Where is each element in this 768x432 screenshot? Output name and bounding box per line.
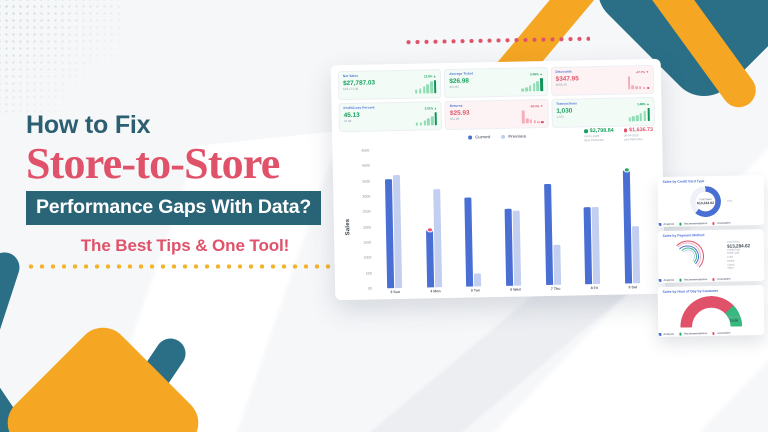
y-tick: 2000 bbox=[363, 225, 371, 229]
performer-label: Low Performer bbox=[624, 138, 653, 142]
footer-legend-label: Analysis bbox=[663, 333, 674, 336]
y-tick: 4500 bbox=[361, 149, 369, 153]
y-tick: 3500 bbox=[362, 179, 370, 183]
footer-legend-label: Recommendations bbox=[684, 222, 707, 225]
spiral-legend-item: Other bbox=[727, 267, 750, 271]
red-dotted-rule bbox=[404, 36, 590, 45]
x-tick: 6 Wed bbox=[510, 288, 521, 292]
mini-card-legend: AnalysisRecommendationsAnomalies bbox=[658, 331, 764, 336]
sales-chart-panel[interactable]: CurrentPrevious $3,798.84 09-01-2025 Bes… bbox=[339, 131, 659, 300]
kpi-delta: 3.01% ▲ bbox=[425, 106, 437, 110]
legend-item[interactable]: Previous bbox=[501, 133, 526, 138]
kpi-sparkline bbox=[522, 110, 544, 123]
footer-legend-swatch bbox=[679, 333, 682, 336]
donut-center-value: $10,244.82 bbox=[697, 201, 714, 206]
kpi-sparkline bbox=[416, 112, 438, 125]
bar-current[interactable] bbox=[544, 184, 553, 285]
footer-legend-swatch bbox=[712, 332, 715, 335]
x-tick: 3 Sun bbox=[390, 290, 400, 294]
bar-previous[interactable] bbox=[632, 226, 640, 283]
footer-legend-label: Recommendations bbox=[684, 332, 707, 335]
x-tick: 8 Fri bbox=[591, 286, 599, 290]
bar-group[interactable] bbox=[464, 148, 482, 286]
gauge-readout: Peak Hour 13:00 bbox=[728, 316, 740, 323]
footer-legend-label: Analysis bbox=[663, 279, 674, 282]
bar-previous[interactable] bbox=[474, 273, 481, 286]
footer-legend-item[interactable]: Recommendations bbox=[679, 332, 707, 336]
kpi-delta: 1.68% ▲ bbox=[637, 102, 649, 106]
y-axis-label: Sales bbox=[345, 219, 351, 236]
y-tick: 2500 bbox=[363, 210, 371, 214]
bar-group[interactable] bbox=[582, 146, 600, 284]
kpi-delta: -50.0% ▼ bbox=[530, 104, 543, 108]
performer-label: Best Performer bbox=[584, 139, 613, 143]
bar-current[interactable] bbox=[622, 170, 631, 284]
footer-legend-item[interactable]: Analysis bbox=[658, 333, 674, 336]
mini-card-legend: AnalysisRecommendationsAnomalies bbox=[658, 221, 764, 226]
footer-legend-item[interactable]: Recommendations bbox=[679, 222, 707, 226]
yellow-dotted-rule bbox=[26, 263, 344, 270]
kpi-card[interactable]: Discounts $347.95 $668.38 -47.7% ▼ bbox=[550, 65, 654, 96]
bar-previous[interactable] bbox=[393, 175, 402, 289]
mini-card-title: Sales by Credit Card Type bbox=[663, 179, 759, 184]
kpi-delta: 5.45% ▲ bbox=[530, 72, 542, 76]
x-tick: 5 Tue bbox=[471, 288, 480, 292]
bar-previous[interactable] bbox=[433, 189, 442, 287]
footer-legend-item[interactable]: Analysis bbox=[658, 223, 674, 226]
donut-chart: Total Sales $10,244.82 bbox=[690, 186, 722, 218]
bar-group[interactable] bbox=[622, 145, 640, 283]
kpi-card[interactable]: Returns $25.93 $51.86 -50.0% ▼ bbox=[445, 99, 549, 130]
x-tick: 7 Thu bbox=[551, 287, 561, 291]
chart-plot-area: Sales 4500400035003000250020001500100050… bbox=[339, 145, 654, 300]
footer-legend-item[interactable]: Anomalies bbox=[712, 222, 730, 225]
kpi-title: Profit/Loss Percent bbox=[344, 105, 437, 110]
bar-previous[interactable] bbox=[553, 245, 561, 285]
kpi-card[interactable]: Transactions 1,030 1,013 1.68% ▲ bbox=[551, 97, 655, 128]
legend-swatch bbox=[501, 134, 505, 138]
y-tick: 1000 bbox=[364, 256, 372, 260]
footer-legend-label: Anomalies bbox=[717, 222, 730, 225]
bar-group[interactable] bbox=[385, 150, 403, 288]
bar-series-area bbox=[372, 145, 652, 289]
x-tick: 9 Sat bbox=[628, 285, 637, 289]
performer-badge: $3,798.84 09-01-2025 Best Performer bbox=[584, 128, 614, 143]
kpi-card[interactable]: Average Ticket $26.98 $24.85 5.45% ▲ bbox=[444, 67, 548, 98]
footer-legend-swatch bbox=[712, 278, 715, 281]
mini-card-credit-card-type[interactable]: Sales by Credit Card Type Total Sales $1… bbox=[658, 175, 765, 227]
performer-badge: $1,636.73 08-04-2025 Low Performer bbox=[624, 127, 654, 142]
kpi-title: Transactions bbox=[556, 101, 649, 106]
kpi-sparkline bbox=[415, 80, 437, 93]
kpi-sparkline bbox=[628, 76, 650, 89]
footer-legend-swatch bbox=[658, 279, 661, 282]
y-tick: 1500 bbox=[363, 241, 371, 245]
footer-legend-label: Analysis bbox=[663, 223, 674, 226]
y-axis-ticks: 4500400035003000250020001500100050000 bbox=[351, 151, 372, 289]
headline-band: Performance Gaps With Data? bbox=[26, 191, 321, 225]
donut-side-label: Visa bbox=[727, 200, 732, 203]
y-tick: 500 bbox=[366, 271, 372, 275]
footer-legend-swatch bbox=[658, 333, 661, 336]
legend-swatch bbox=[468, 135, 472, 139]
mini-card-title: Sales by Payment Method bbox=[663, 233, 759, 238]
bar-current[interactable] bbox=[426, 230, 434, 287]
footer-legend-item[interactable]: Anomalies bbox=[712, 332, 730, 335]
bar-previous[interactable] bbox=[592, 207, 601, 284]
dashboard-card[interactable]: Net Sales $27,787.03 $25,172.08 12.5% ▲ … bbox=[331, 59, 666, 301]
kpi-grid: Net Sales $27,787.03 $25,172.08 12.5% ▲ … bbox=[338, 65, 655, 132]
kpi-card[interactable]: Profit/Loss Percent 45.13 43.98 3.01% ▲ bbox=[338, 101, 442, 132]
footer-legend-swatch bbox=[712, 222, 715, 225]
yellow-triangle-bottom-left bbox=[0, 317, 209, 432]
teal-strip-left bbox=[0, 249, 23, 382]
recommendation-marker-icon[interactable] bbox=[624, 167, 630, 173]
teal-chevron-bottom-left bbox=[0, 302, 210, 432]
y-tick: 00 bbox=[368, 287, 372, 291]
footer-legend-swatch bbox=[679, 279, 682, 282]
footer-legend-item[interactable]: Recommendations bbox=[679, 278, 707, 282]
footer-legend-label: Anomalies bbox=[717, 332, 730, 335]
dot-grid-pattern bbox=[0, 0, 124, 116]
kpi-title: Net Sales bbox=[343, 73, 436, 78]
mini-card-payment-method[interactable]: Sales by Payment Method Total Sales $13,… bbox=[658, 229, 765, 283]
performer-dot bbox=[624, 129, 627, 132]
gauge-chart: Peak Hour 13:00 bbox=[680, 296, 743, 328]
poster-canvas: How to Fix Store-to-Store Performance Ga… bbox=[0, 0, 768, 432]
legend-label: Current bbox=[475, 134, 490, 139]
mini-card-legend: AnalysisRecommendationsAnomalies bbox=[658, 277, 764, 282]
footer-legend-label: Recommendations bbox=[684, 278, 707, 281]
footer-legend-swatch bbox=[658, 223, 661, 226]
legend-item[interactable]: Current bbox=[468, 134, 490, 139]
mini-card-hour-of-day[interactable]: Sales by Hour of Day by Customer Peak Ho… bbox=[658, 285, 765, 337]
kpi-card[interactable]: Net Sales $27,787.03 $25,172.08 12.5% ▲ bbox=[338, 69, 442, 100]
y-tick: 3000 bbox=[362, 195, 370, 199]
bar-group[interactable] bbox=[503, 148, 521, 286]
footer-legend-label: Anomalies bbox=[717, 278, 730, 281]
legend-label: Previous bbox=[508, 133, 526, 138]
mini-card-title: Sales by Hour of Day by Customer bbox=[663, 289, 759, 294]
kpi-title: Average Ticket bbox=[449, 71, 542, 76]
spiral-legend-list: Credit CardDebit CardCashMobileCheckOthe… bbox=[727, 248, 750, 271]
bar-previous[interactable] bbox=[513, 210, 522, 285]
y-tick: 4000 bbox=[362, 164, 370, 168]
bar-group[interactable] bbox=[424, 149, 442, 287]
kpi-sparkline bbox=[521, 78, 543, 91]
bar-group[interactable] bbox=[543, 147, 561, 285]
kpi-delta: -47.7% ▼ bbox=[636, 70, 649, 74]
radial-spiral-chart bbox=[671, 240, 704, 273]
gauge-value: 13:00 bbox=[728, 319, 740, 323]
performer-dot bbox=[584, 129, 587, 132]
donut-center-label: Total Sales $10,244.82 bbox=[697, 198, 714, 206]
headline-subtitle: The Best Tips & One Tool! bbox=[26, 236, 344, 256]
bar-current[interactable] bbox=[465, 198, 474, 287]
kpi-sparkline bbox=[628, 108, 650, 121]
footer-legend-item[interactable]: Analysis bbox=[658, 279, 674, 282]
footer-legend-swatch bbox=[679, 223, 682, 226]
footer-legend-item[interactable]: Anomalies bbox=[712, 278, 730, 281]
performer-badges: $3,798.84 09-01-2025 Best Performer $1,6… bbox=[584, 127, 653, 143]
x-tick: 4 Mon bbox=[430, 289, 440, 293]
kpi-delta: 12.5% ▲ bbox=[424, 74, 436, 78]
